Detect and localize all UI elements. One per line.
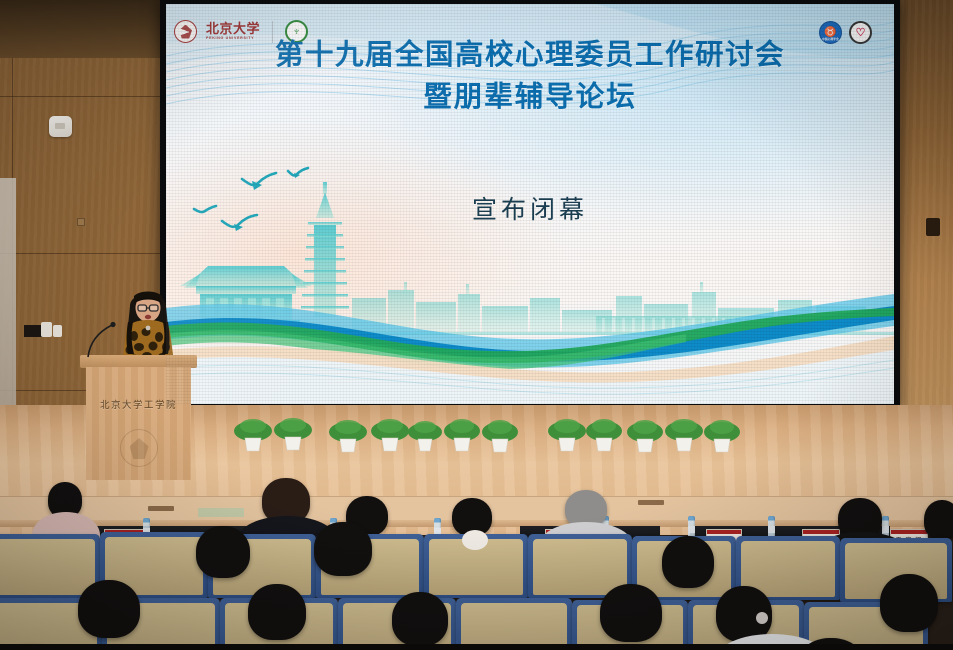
audience-head (196, 526, 250, 578)
microphone-icon (82, 321, 122, 359)
audience-head (924, 500, 953, 540)
hair-tie-icon (756, 612, 768, 624)
auditorium-seat[interactable] (456, 598, 572, 650)
audience-area (0, 470, 953, 650)
power-outlet-plate (41, 322, 52, 337)
ribbon-waves-decoration (166, 264, 894, 404)
audience-head (314, 522, 372, 576)
led-screen-frame: 北京大学 PEKING UNIVERSITY ♆ ♉中国心理学会 ♡ 第十九届全… (160, 0, 900, 412)
hair-accessory-icon (462, 530, 488, 550)
ceiling-shadow-strip (0, 0, 176, 58)
right-wall-plate-icon (926, 218, 940, 236)
audience-head (392, 592, 448, 646)
audience-head (78, 580, 140, 638)
slide-title-line2: 暨朋辈辅导论坛 (166, 76, 894, 118)
wall-speaker-panel (49, 116, 72, 137)
audience-head (248, 584, 306, 640)
presentation-slide: 北京大学 PEKING UNIVERSITY ♆ ♉中国心理学会 ♡ 第十九届全… (166, 4, 894, 404)
slide-title: 第十九届全国高校心理委员工作研讨会 暨朋辈辅导论坛 (166, 34, 894, 117)
lectern-label: 北京大学工学院 (86, 397, 191, 411)
photo-bottom-bar (0, 644, 953, 650)
auditorium-photo: 北京大学 PEKING UNIVERSITY ♆ ♉中国心理学会 ♡ 第十九届全… (0, 0, 953, 650)
slide-subtitle: 宣布闭幕 (166, 190, 894, 226)
power-outlet-plate-2 (53, 325, 62, 337)
audience-head (880, 574, 938, 632)
slide-title-line1: 第十九届全国高校心理委员工作研讨会 (166, 34, 894, 76)
audience-head (600, 584, 662, 642)
stage-potted-plants (0, 415, 953, 457)
speaker-person (112, 284, 184, 362)
wall-plate-icon (77, 218, 85, 226)
audience-head (662, 536, 714, 588)
